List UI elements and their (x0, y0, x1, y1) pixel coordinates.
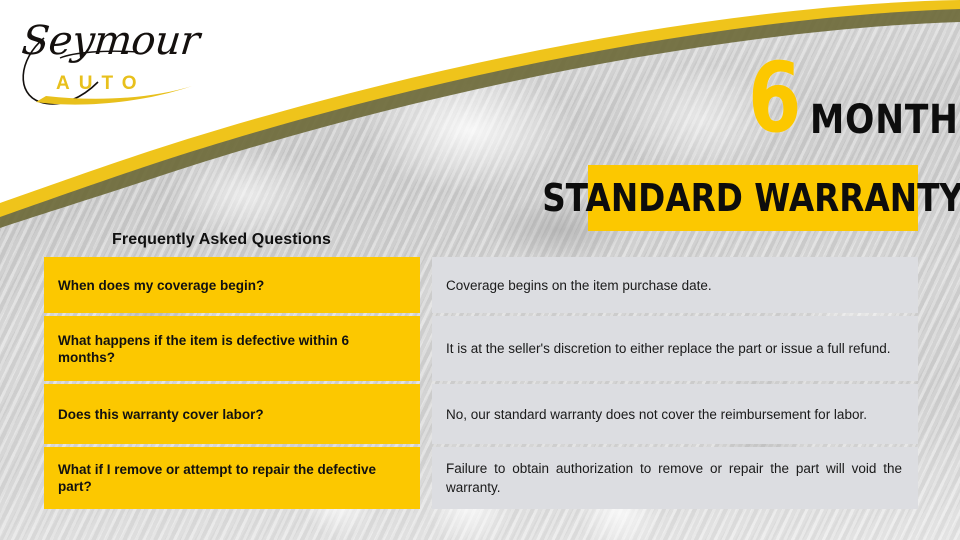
duration-unit: MONTH (810, 100, 959, 140)
table-row: What happens if the item is defective wi… (44, 316, 918, 381)
faq-answer: No, our standard warranty does not cover… (432, 384, 918, 444)
faq-answer: It is at the seller's discretion to eith… (432, 316, 918, 381)
faq-question: When does my coverage begin? (44, 257, 420, 313)
faq-table: When does my coverage begin? Coverage be… (44, 257, 918, 509)
column-gap (420, 257, 432, 313)
standard-warranty-banner: STANDARD WARRANTY (588, 165, 918, 231)
seymour-auto-logo: Seymour AUTO (14, 16, 204, 108)
faq-answer: Failure to obtain authorization to remov… (432, 447, 918, 509)
column-gap (420, 447, 432, 509)
faq-answer: Coverage begins on the item purchase dat… (432, 257, 918, 313)
table-row: What if I remove or attempt to repair th… (44, 447, 918, 509)
standard-warranty-label: STANDARD WARRANTY (543, 179, 960, 217)
faq-heading: Frequently Asked Questions (112, 231, 331, 249)
warranty-duration: 6 MONTH (748, 56, 948, 156)
faq-question: What if I remove or attempt to repair th… (44, 447, 420, 509)
column-gap (420, 384, 432, 444)
logo-flourish-stroke (23, 38, 98, 104)
faq-question: Does this warranty cover labor? (44, 384, 420, 444)
duration-number: 6 (748, 50, 801, 146)
table-row: Does this warranty cover labor? No, our … (44, 384, 918, 444)
faq-question: What happens if the item is defective wi… (44, 316, 420, 381)
logo-crossbar-stroke (60, 51, 138, 58)
warranty-slide: Seymour AUTO 6 MONTH STANDARD WARRANTY F… (0, 0, 960, 540)
logo-swoosh-icon (14, 16, 204, 108)
logo-underline-swoosh (36, 86, 192, 105)
column-gap (420, 316, 432, 381)
table-row: When does my coverage begin? Coverage be… (44, 257, 918, 313)
